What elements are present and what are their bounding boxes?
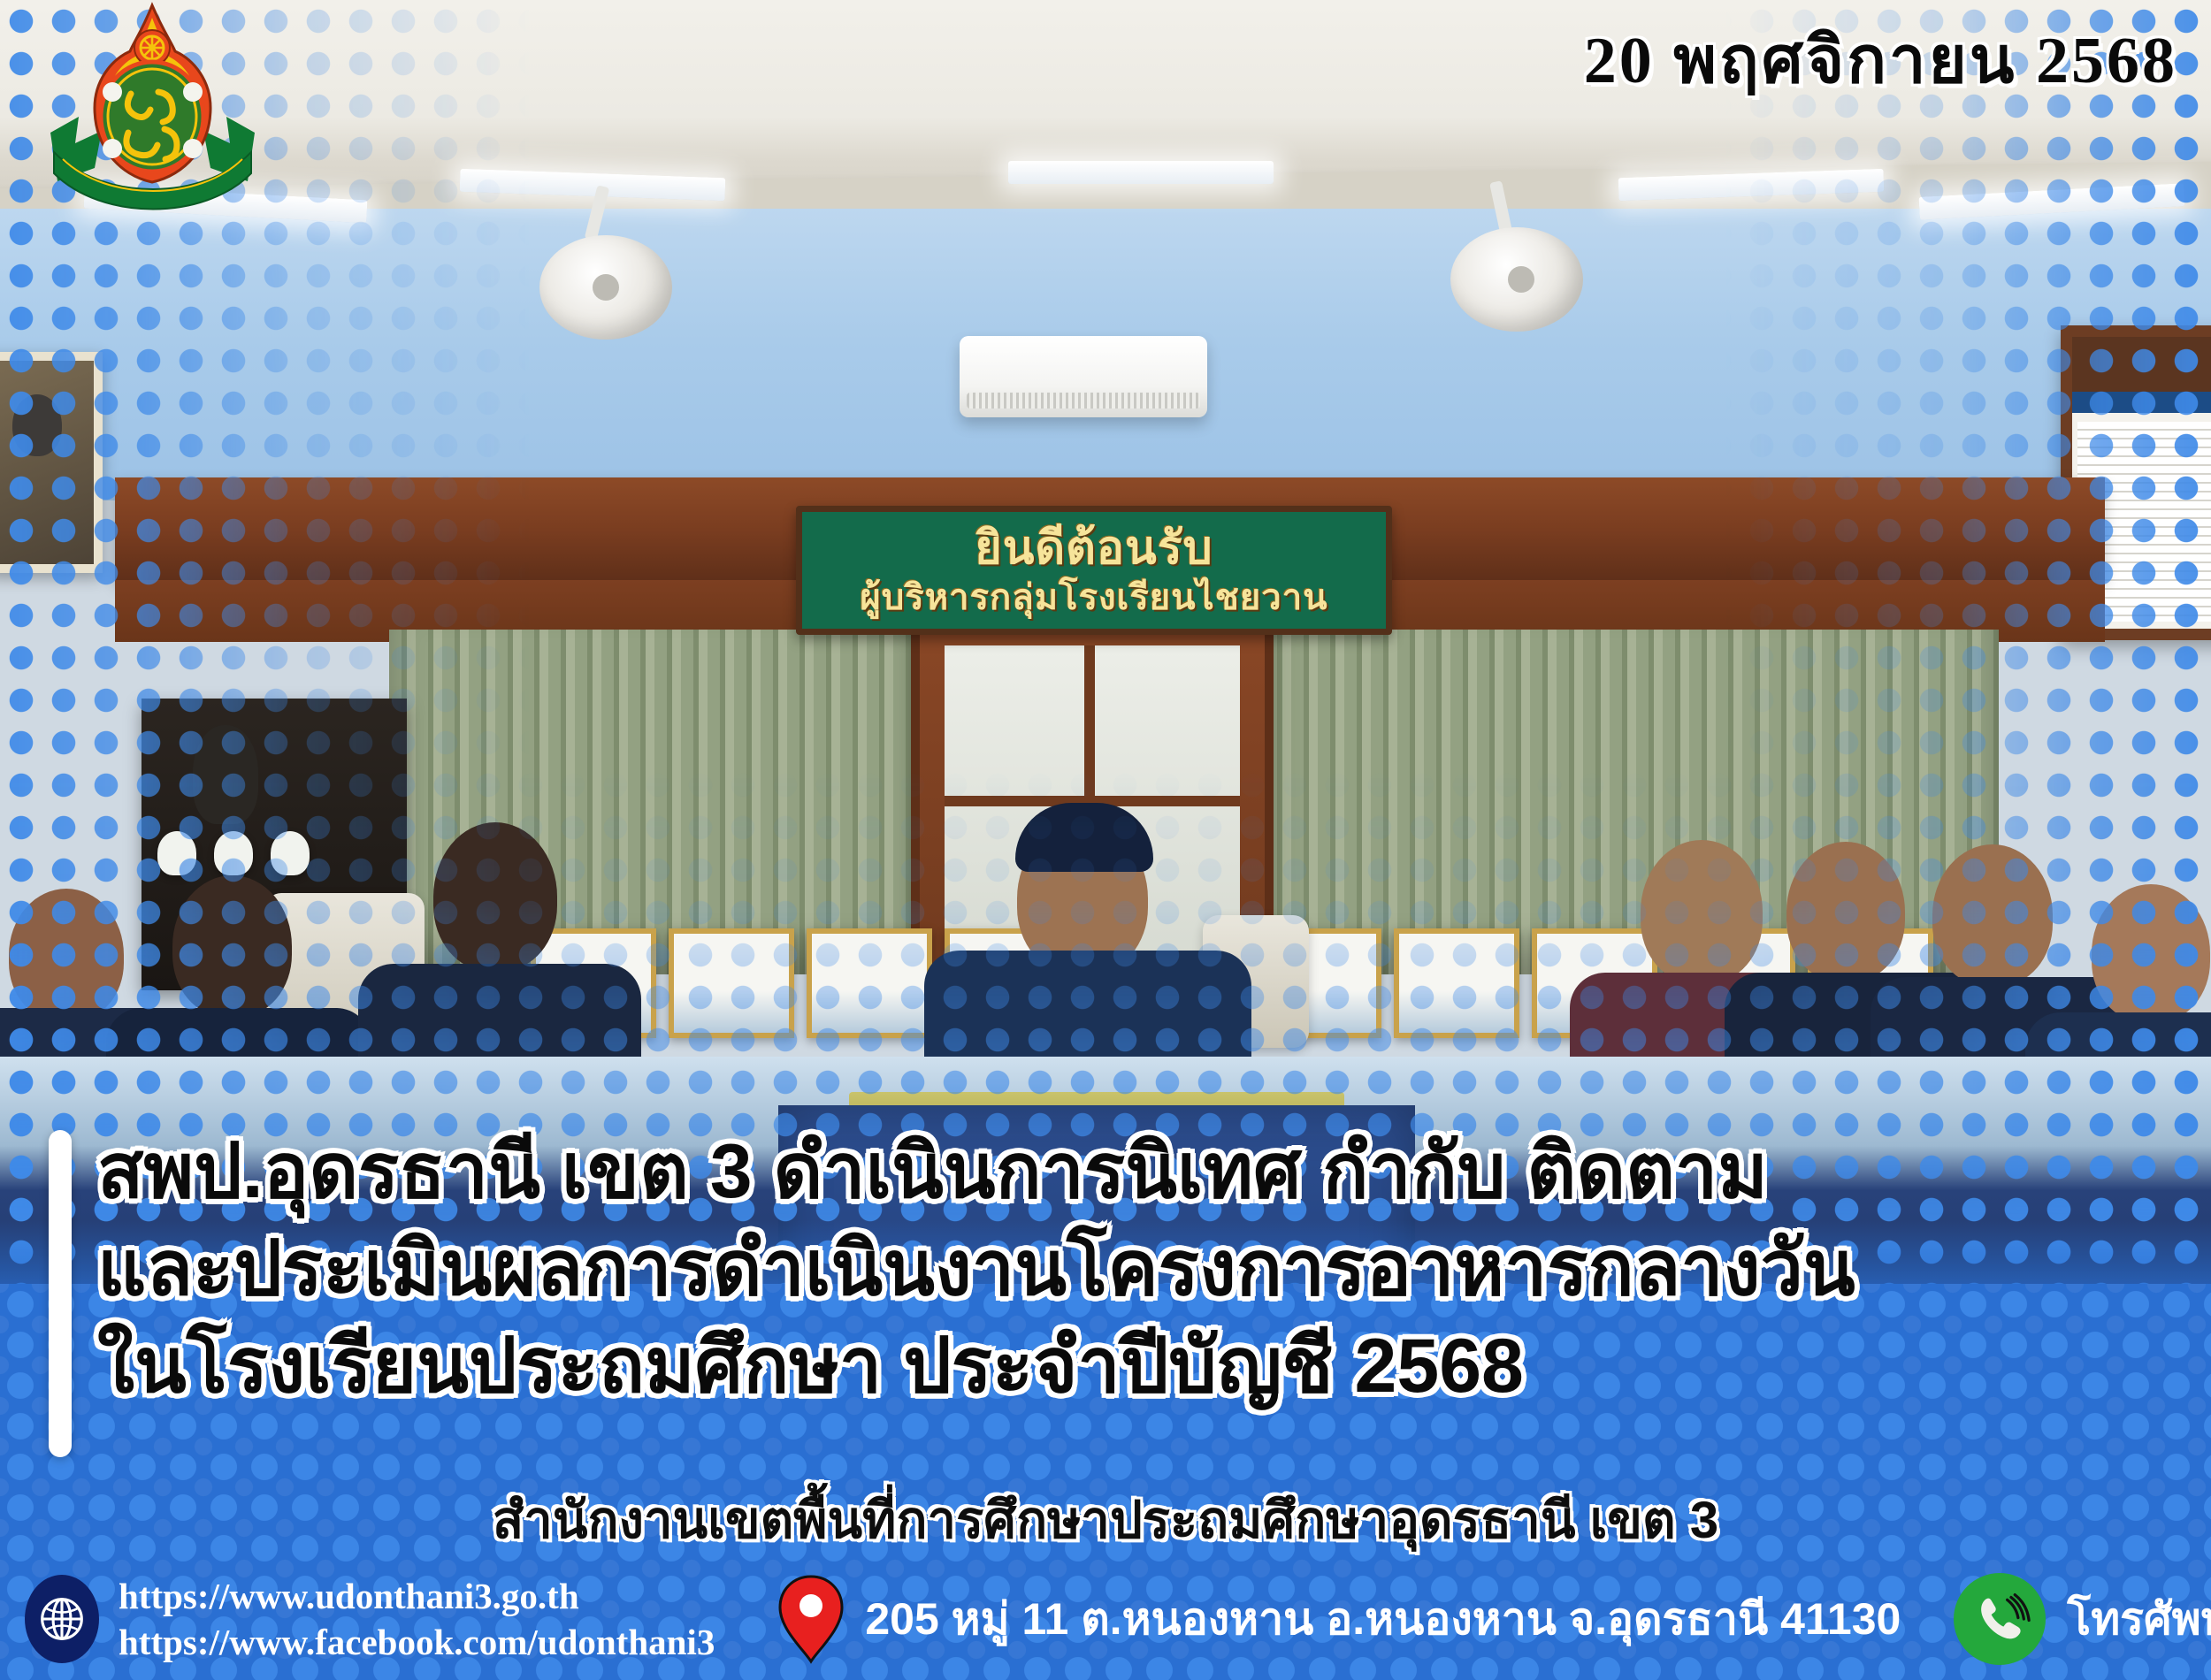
globe-icon (25, 1575, 99, 1663)
framed-certificate (1394, 928, 1519, 1038)
telephone-text: โทรศัพท์ : 0 4226 1156 (2067, 1585, 2211, 1654)
footer-address-group: 205 หมู่ 11 ต.หนองหาน อ.หนองหาน จ.อุดรธา… (777, 1573, 1901, 1665)
person-head (2092, 884, 2210, 1022)
welcome-sign: ยินดีต้อนรับ ผู้บริหารกลุ่มโรงเรียนไชยวา… (796, 506, 1392, 635)
person-head (1641, 840, 1763, 983)
person-head (1786, 842, 1905, 981)
title-accent-bar (49, 1130, 72, 1457)
welcome-sign-line2: ผู้บริหารกลุ่มโรงเรียนไชยวาน (860, 580, 1327, 615)
person-head (9, 889, 124, 1021)
poster-root: ยินดีต้อนรับ ผู้บริหารกลุ่มโรงเรียนไชยวา… (0, 0, 2211, 1680)
footer-bar: https://www.udonthani3.go.th https://www… (0, 1558, 2211, 1680)
footer-web-group: https://www.udonthani3.go.th https://www… (25, 1573, 715, 1666)
title-line-3: ในโรงเรียนประถมศึกษา ประจำปีบัญชี 2568 (97, 1317, 2167, 1415)
subtitle-organization: สำนักงานเขตพื้นที่การศึกษาประถมศึกษาอุดร… (0, 1478, 2211, 1561)
framed-certificate (807, 928, 932, 1038)
wall-portrait (0, 352, 103, 573)
obec-seal-svg (49, 0, 256, 217)
title-line-2: และประเมินผลการดำเนินงานโครงการอาหารกลาง… (97, 1220, 2167, 1317)
welcome-sign-line1: ยินดีต้อนรับ (975, 525, 1213, 571)
address-text: 205 หมู่ 11 ต.หนองหาน อ.หนองหาน จ.อุดรธา… (865, 1585, 1901, 1654)
website-url[interactable]: https://www.udonthani3.go.th (119, 1573, 715, 1619)
phone-icon-svg (1968, 1587, 2031, 1651)
footer-urls: https://www.udonthani3.go.th https://www… (119, 1573, 715, 1666)
person-head (1932, 844, 2053, 986)
person-head (433, 822, 557, 971)
obec-seal-logo (49, 0, 256, 217)
framed-certificate (669, 928, 794, 1038)
facebook-url[interactable]: https://www.facebook.com/udonthani3 (119, 1619, 715, 1665)
air-conditioner (960, 336, 1207, 417)
phone-icon (1954, 1573, 2046, 1665)
date-label: 20 พฤศจิกายน 2568 (1584, 7, 2177, 111)
globe-icon-svg (34, 1592, 89, 1646)
title-block: สพป.อุดรธานี เขต 3 ดำเนินการนิเทศ กำกับ … (97, 1123, 2167, 1415)
title-line-1: สพป.อุดรธานี เขต 3 ดำเนินการนิเทศ กำกับ … (97, 1123, 2167, 1220)
person-head (172, 875, 292, 1017)
location-pin-icon-svg (777, 1573, 845, 1665)
footer-telephone-group: โทรศัพท์ : 0 4226 1156 (1954, 1573, 2211, 1665)
location-pin-icon (777, 1573, 845, 1665)
ceiling-light (1008, 161, 1274, 184)
